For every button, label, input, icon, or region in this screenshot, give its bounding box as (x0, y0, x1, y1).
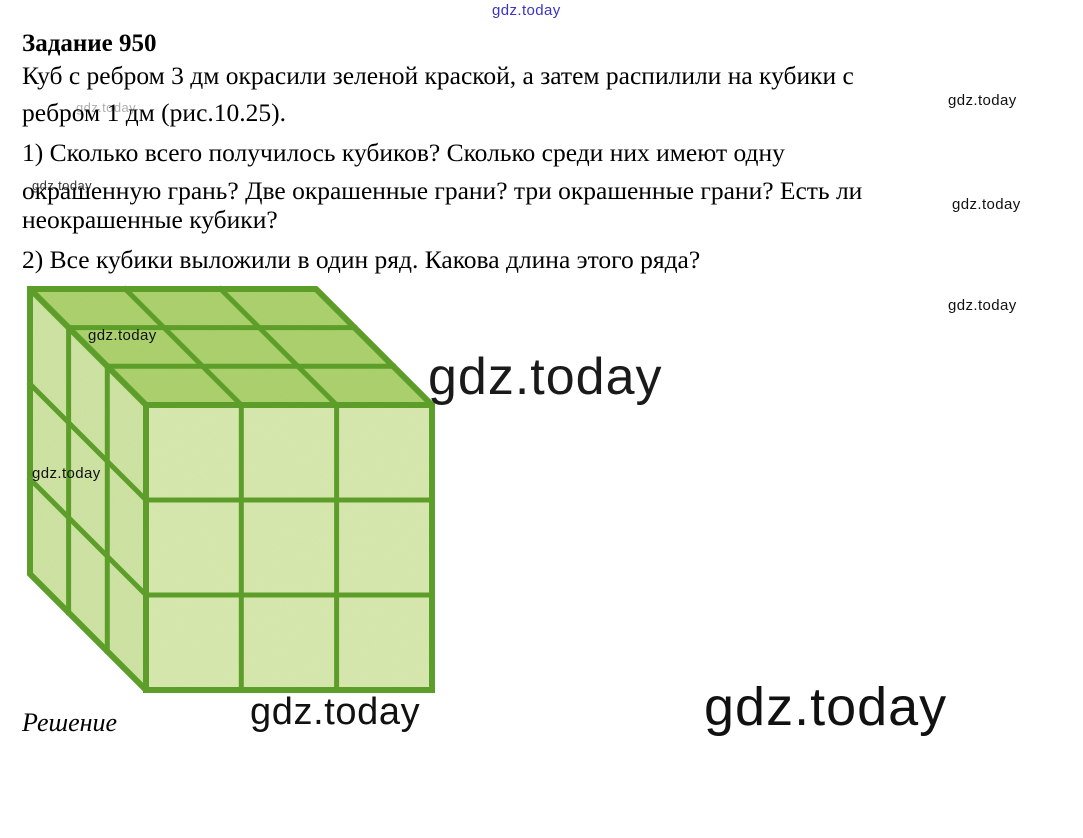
watermark-bottom-center: gdz.today (250, 691, 420, 734)
watermark-cube-upper: gdz.today (88, 327, 157, 344)
task-line-5: неокрашенные кубики? (22, 205, 278, 235)
task-line-4: окрашенную грань? Две окрашенные грани? … (22, 176, 862, 206)
watermark-bottom-right: gdz.today (704, 676, 947, 738)
watermark-cube-left: gdz.today (32, 465, 101, 482)
task-line-3: 1) Сколько всего получилось кубиков? Ско… (22, 138, 785, 168)
task-line-1: Куб с ребром 3 дм окрасили зеленой краск… (22, 61, 854, 91)
watermark-right-lower: gdz.today (948, 297, 1017, 314)
solution-label: Решение (22, 708, 117, 738)
watermark-center-large: gdz.today (428, 347, 663, 407)
task-line-2: ребром 1 дм (рис.10.25). (22, 98, 286, 128)
watermark-left-upper: gdz.today (76, 100, 136, 115)
watermark-right-mid: gdz.today (952, 196, 1021, 213)
cube-front-face (146, 405, 432, 690)
watermark-right-upper: gdz.today (948, 92, 1017, 109)
page-root: Задание 950 Куб с ребром 3 дм окрасили з… (0, 0, 1083, 838)
watermark-top-center: gdz.today (492, 2, 561, 19)
cube-figure (18, 275, 448, 705)
cube-svg (18, 275, 448, 705)
page-title: Задание 950 (22, 30, 157, 58)
task-line-6: 2) Все кубики выложили в один ряд. Каков… (22, 245, 700, 275)
cube-body (30, 289, 432, 690)
watermark-left-mid: gdz.today (32, 178, 92, 193)
